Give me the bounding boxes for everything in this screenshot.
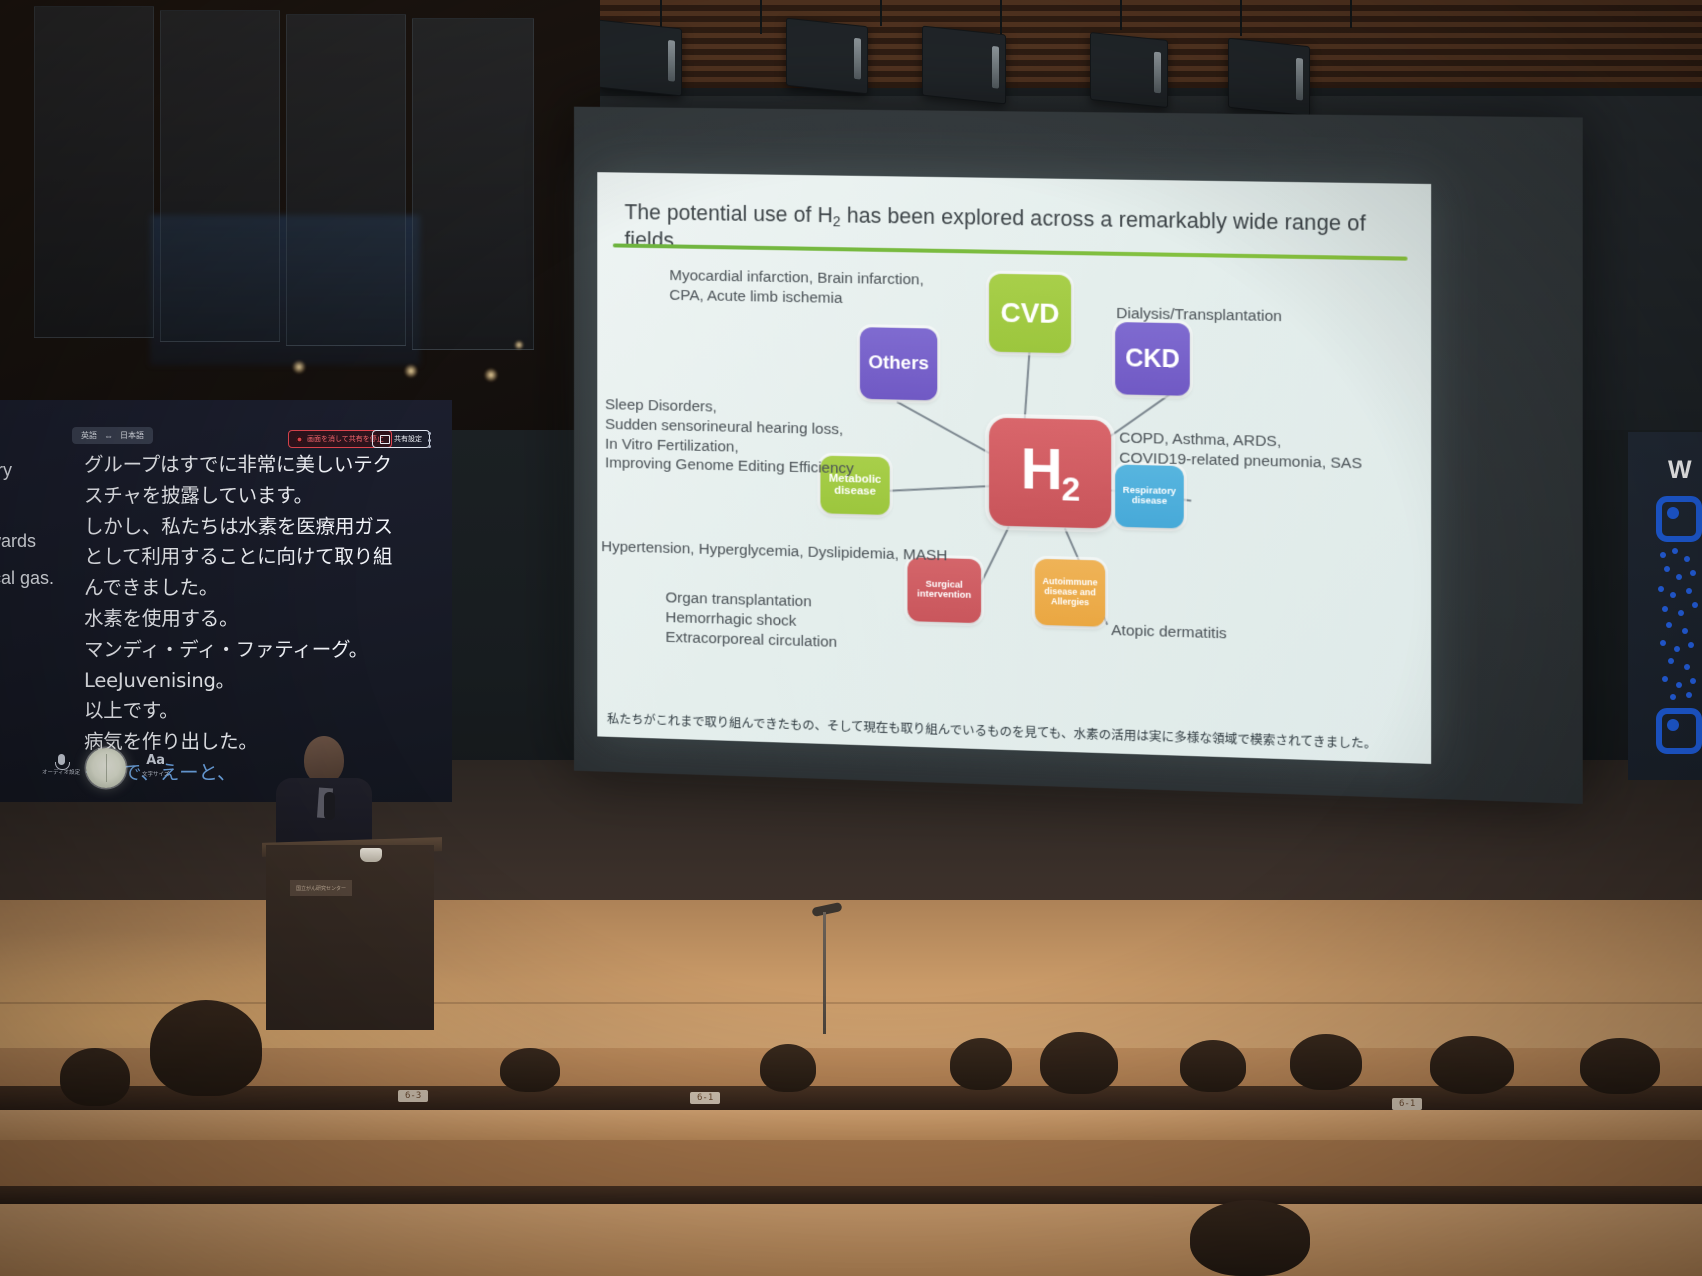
conference-photo: The potential use of H2 has been explore… [0, 0, 1702, 1276]
node-surgical: Surgical intervention [907, 557, 981, 623]
label-respiratory-text: COPD, Asthma, ARDS, COVID19-related pneu… [1119, 428, 1362, 474]
label-cvd-text: Myocardial infarction, Brain infarction,… [669, 266, 923, 310]
caption-jp-line: スチャを披露しています。 [84, 481, 414, 512]
wall-light-glow [514, 340, 524, 350]
podium [266, 845, 434, 1030]
label-surgical-text: Organ transplantation Hemorrhagic shock … [665, 588, 837, 652]
lang-source: 英語 [81, 430, 97, 441]
qr-heading: W [1668, 456, 1692, 485]
floor-seam [0, 1002, 1702, 1004]
qr-code [1656, 496, 1702, 746]
label-others-text: Sleep Disorders, Sudden sensorineural he… [605, 395, 854, 479]
light-cable [1120, 0, 1122, 30]
light-cable [880, 0, 882, 26]
caption-jp-line: マンディ・ディ・ファティーグ。 [84, 635, 414, 666]
text-size-label: 文字サイズ [142, 770, 169, 778]
audience-head [150, 1000, 262, 1096]
label-ckd-text: Dialysis/Transplantation [1116, 304, 1282, 327]
caption-english-column: very owards dical gas. [0, 452, 76, 597]
light-cable [760, 0, 762, 34]
swap-icon: ⇔ [104, 431, 113, 441]
caption-jp-line: 水素を使用する。 [84, 604, 414, 635]
audio-settings-button[interactable]: オーディオ設定 [42, 754, 80, 776]
audience-head [1040, 1032, 1118, 1094]
app-logo-icon [86, 748, 126, 788]
node-autoimmune: Autoimmune disease and Allergies [1035, 559, 1105, 627]
glass-panel [412, 18, 534, 350]
audience-head [60, 1048, 130, 1106]
node-cvd: CVD [989, 274, 1071, 354]
stage-light [598, 20, 682, 97]
caption-jp-line: LeeJuvenising。 [84, 666, 414, 697]
caption-jp-line: 以上です。 [84, 696, 414, 727]
audience-head [760, 1044, 816, 1092]
audience-head [950, 1038, 1012, 1090]
screen-share-icon [380, 435, 390, 444]
audience-head [1290, 1034, 1362, 1090]
qr-finder-icon [1656, 708, 1702, 754]
text-size-button[interactable]: Aa 文字サイズ [142, 754, 169, 778]
light-cable [1350, 0, 1352, 28]
wall-light-glow [292, 360, 306, 374]
presentation-slide: The potential use of H2 has been explore… [597, 172, 1431, 764]
edge-h2-metabolic [886, 486, 991, 492]
audience-head [1180, 1040, 1246, 1092]
share-settings-button[interactable]: 共有設定 [372, 430, 430, 448]
record-stop-icon [296, 436, 303, 443]
seat-tag: 6-3 [398, 1090, 428, 1102]
balcony-rail-wood [0, 1110, 1702, 1140]
more-options-icon[interactable] [428, 432, 432, 448]
share-settings-label: 共有設定 [394, 434, 422, 444]
lang-target: 日本語 [120, 430, 144, 441]
qr-finder-icon [1656, 496, 1702, 542]
node-respiratory: Respiratory disease [1115, 465, 1184, 529]
presenter-head [304, 736, 344, 784]
water-cup [360, 848, 382, 862]
seat-tag: 6-1 [690, 1092, 720, 1104]
node-others: Others [860, 327, 937, 400]
podium-plaque: 国立がん研究センター [290, 880, 352, 896]
balcony-rail-dark-2 [0, 1186, 1702, 1204]
stage-light [1228, 38, 1310, 117]
light-cable [1240, 0, 1242, 36]
caption-jp-line: しかし、私たちは水素を医療用ガス [84, 512, 414, 543]
app-logo-button[interactable] [86, 748, 126, 788]
caption-toolbar-icons: オーディオ設定 Aa 文字サイズ [24, 748, 214, 798]
language-toggle[interactable]: 英語 ⇔ 日本語 [72, 427, 153, 444]
caption-jp-line: んできました。 [84, 573, 414, 604]
label-autoimmune-text: Atopic dermatitis [1111, 621, 1227, 644]
stage-light [922, 26, 1006, 105]
microphone-icon [58, 754, 65, 765]
glass-panel [34, 6, 154, 338]
handheld-microphone [324, 792, 335, 820]
node-ckd: CKD [1115, 322, 1190, 396]
audience-head [1430, 1036, 1514, 1094]
glass-panel [286, 14, 406, 346]
caption-en-line: owards [0, 523, 76, 560]
stage-light [1090, 32, 1168, 108]
caption-jp-line: として利用することに向けて取り組 [84, 542, 414, 573]
wall-light-glow [404, 364, 418, 378]
text-size-icon: Aa [146, 754, 165, 767]
glass-panel [160, 10, 280, 342]
edge-h2-others [896, 401, 995, 457]
light-cable [660, 0, 662, 28]
node-h2-center: H2 [989, 418, 1111, 529]
qr-side-display: W [1628, 432, 1702, 780]
audience-head [500, 1048, 560, 1092]
balcony-rail-wood-2 [0, 1204, 1702, 1276]
audience-head [1580, 1038, 1660, 1094]
caption-en-line: dical gas. [0, 560, 76, 597]
audience-head [1190, 1200, 1310, 1276]
floor-microphone-stand [823, 912, 826, 1034]
caption-jp-line: グループはすでに非常に美しいテク [84, 450, 414, 481]
caption-en-line: very [0, 452, 76, 489]
wall-light-glow [484, 368, 498, 382]
seat-tag: 6-1 [1392, 1098, 1422, 1110]
stage-light [786, 18, 868, 95]
label-metabolic-text: Hypertension, Hyperglycemia, Dyslipidemi… [601, 537, 947, 566]
